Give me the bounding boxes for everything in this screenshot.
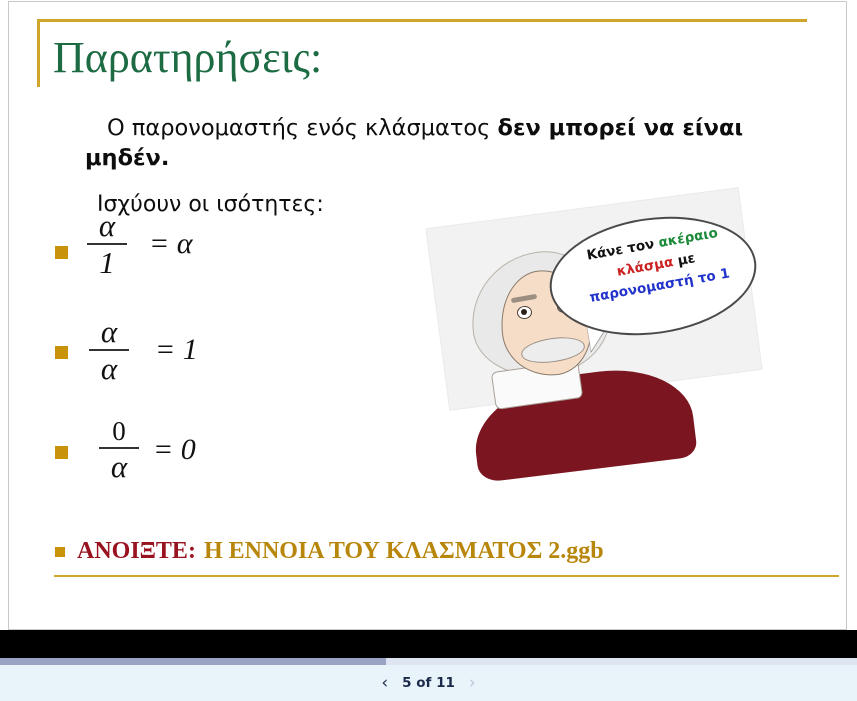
fraction-denominator: α bbox=[95, 351, 123, 384]
image-content: Κάνε τον ακέραιο κλάσμα με παρονομαστή τ… bbox=[437, 208, 759, 470]
equation-row: α α = 1 bbox=[55, 316, 435, 416]
einstein-cartoon-image: Κάνε τον ακέραιο κλάσμα με παρονομαστή τ… bbox=[437, 208, 759, 470]
viewer-black-band bbox=[0, 630, 857, 658]
equation-right-side: = 0 bbox=[153, 433, 196, 467]
chevron-right-icon[interactable]: › bbox=[469, 675, 476, 692]
page-title: Παρατηρήσεις: bbox=[53, 35, 322, 81]
chevron-left-icon[interactable]: ‹ bbox=[381, 675, 388, 692]
fraction-numerator: α bbox=[95, 316, 123, 349]
viewer-footer: ‹ 5 of 11 › bbox=[0, 665, 857, 701]
fraction: 0 α bbox=[99, 418, 139, 482]
open-file-link[interactable]: ΑΝΟΙΞΤΕ: Η ΕΝΝΟΙΑ ΤΟΥ ΚΛΑΣΜΑΤΟΣ 2.ggb bbox=[55, 538, 815, 565]
body-paragraph-1: Ο παρονομαστής ενός κλάσματος δεν μπορεί… bbox=[85, 114, 765, 173]
slide-canvas: Παρατηρήσεις: Ο παρονομαστής ενός κλάσμα… bbox=[8, 1, 847, 630]
equation-row: α 1 = α bbox=[55, 216, 435, 316]
equation-body: 0 α = 0 bbox=[99, 418, 196, 482]
link-prefix: ΑΝΟΙΞΤΕ: bbox=[77, 538, 196, 565]
equation-right-side: = 1 bbox=[155, 333, 198, 367]
square-bullet-icon bbox=[55, 547, 65, 557]
link-filename[interactable]: Η ΕΝΝΟΙΑ ΤΟΥ ΚΛΑΣΜΑΤΟΣ 2.ggb bbox=[204, 538, 604, 565]
progress-scrollbar-thumb[interactable] bbox=[0, 658, 386, 665]
title-rule-left bbox=[37, 19, 40, 87]
fraction: α 1 bbox=[87, 210, 127, 278]
paragraph-1-plain: Ο παρονομαστής ενός κλάσματος bbox=[85, 115, 498, 141]
progress-scrollbar[interactable] bbox=[0, 658, 857, 665]
fraction-numerator: 0 bbox=[106, 418, 132, 447]
fraction-numerator: α bbox=[93, 210, 121, 243]
pager: ‹ 5 of 11 › bbox=[381, 675, 475, 692]
presentation-viewer: Παρατηρήσεις: Ο παρονομαστής ενός κλάσμα… bbox=[0, 0, 857, 701]
fraction-denominator: 1 bbox=[93, 245, 121, 278]
bottom-rule bbox=[54, 575, 839, 577]
pupil-left bbox=[521, 309, 527, 315]
equation-body: α α = 1 bbox=[89, 316, 198, 384]
square-bullet-icon bbox=[55, 446, 68, 459]
fraction: α α bbox=[89, 316, 129, 384]
square-bullet-icon bbox=[55, 346, 68, 359]
page-indicator: 5 of 11 bbox=[402, 675, 455, 691]
title-rule-top bbox=[37, 19, 807, 22]
equation-body: α 1 = α bbox=[87, 210, 193, 278]
equation-row: 0 α = 0 bbox=[55, 416, 435, 516]
equation-list: α 1 = α α α = 1 bbox=[55, 216, 435, 516]
equation-right-side: = α bbox=[149, 227, 193, 261]
bubble-line-2-plain: με bbox=[672, 250, 697, 270]
fraction-denominator: α bbox=[105, 449, 133, 482]
square-bullet-icon bbox=[55, 246, 68, 259]
